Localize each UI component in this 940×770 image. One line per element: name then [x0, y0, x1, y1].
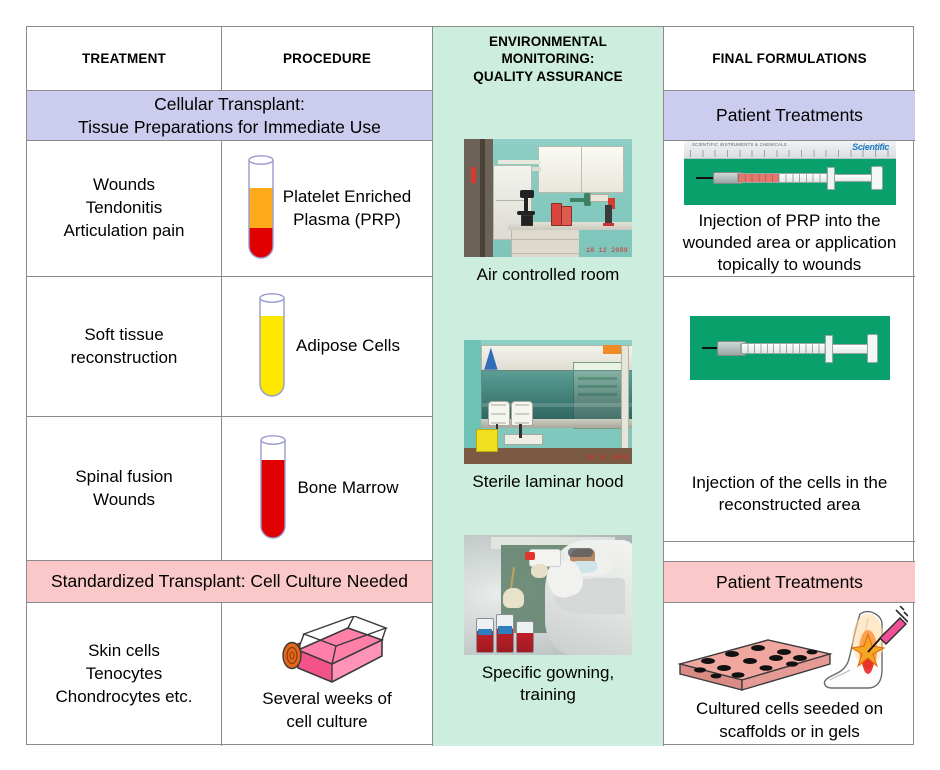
scaffold-and-foot-injection [672, 606, 908, 694]
laminar-hood-photo: 18 12 2009 [464, 340, 632, 464]
final-row2-line1: Injection of the cells in the [692, 472, 888, 494]
gowning-photo [464, 535, 632, 655]
photo-datestamp: 18 12 2009 [586, 247, 628, 254]
figure-root: TREATMENT PROCEDURE ENVIRONMENTAL MONITO… [0, 0, 940, 770]
test-tube-bone-marrow-icon [255, 430, 291, 548]
banner-standardized-transplant: Standardized Transplant: Cell Culture Ne… [27, 561, 432, 603]
gowning-caption-line2: training [433, 684, 663, 706]
environmental-item-1: 18 12 2009 Air controlled room [433, 139, 663, 286]
syringe-cells-photo [690, 316, 890, 380]
procedure-row1-label: Platelet Enriched Plasma (PRP) [283, 186, 412, 230]
column-header-final-formulations: FINAL FORMULATIONS [664, 27, 915, 91]
final-cell-row4: Cultured cells seeded on scaffolds or in… [664, 603, 915, 746]
test-tube-bone-marrow [255, 430, 291, 548]
procedure-row2-line1: Adipose Cells [296, 335, 400, 357]
syringe-prp-photo: SCIENTIFIC INSTRUMENTS & CHEMICALS Scien… [684, 141, 896, 205]
column-header-procedure: PROCEDURE [222, 27, 432, 91]
column-header-environmental: ENVIRONMENTAL MONITORING: QUALITY ASSURA… [433, 27, 663, 91]
procedure-cell-row2: Adipose Cells [222, 277, 432, 417]
environmental-item-2: 18 12 2009 Sterile laminar hood [433, 340, 663, 493]
procedure-row3-label: Bone Marrow [297, 477, 398, 499]
final-cell-row1: SCIENTIFIC INSTRUMENTS & CHEMICALS Scien… [664, 141, 915, 277]
scaffold-and-foot-injection-icon [672, 606, 908, 694]
test-tube-adipose [254, 288, 290, 406]
test-tube-adipose-icon [254, 288, 290, 406]
lab-room-photo: 18 12 2009 [464, 139, 632, 257]
column-header-environmental-line3: QUALITY ASSURANCE [473, 68, 622, 85]
procedure-row1-line2: Plasma (PRP) [283, 209, 412, 231]
gowning-caption-line1: Specific gowning, [433, 662, 663, 684]
procedure-row4-line1: Several weeks of [262, 688, 391, 710]
test-tube-prp [243, 150, 279, 268]
process-table: TREATMENT PROCEDURE ENVIRONMENTAL MONITO… [26, 26, 914, 745]
banner-patient-2-label: Patient Treatments [716, 571, 863, 594]
banner-standardized-label: Standardized Transplant: Cell Culture Ne… [51, 570, 408, 593]
treatment-row4-line3: Chondrocytes etc. [55, 686, 192, 709]
treatment-row1-line2: Tendonitis [64, 197, 185, 220]
treatment-cell-row1: Wounds Tendonitis Articulation pain [27, 141, 222, 277]
treatment-cell-row2: Soft tissue reconstruction [27, 277, 222, 417]
treatment-row3-line2: Wounds [75, 489, 172, 512]
laminar-hood-caption: Sterile laminar hood [433, 471, 663, 493]
test-tube-prp-icon [243, 150, 279, 268]
treatment-row2-line2: reconstruction [71, 347, 178, 370]
column-header-treatment: TREATMENT [27, 27, 222, 91]
final-row1-caption: Injection of PRP into the wounded area o… [683, 210, 897, 276]
ruler-text: SCIENTIFIC INSTRUMENTS & CHEMICALS [692, 142, 787, 147]
banner-cellular-line2: Tissue Preparations for Immediate Use [78, 116, 381, 139]
gowning-caption: Specific gowning, training [433, 662, 663, 706]
photo-ruler: SCIENTIFIC INSTRUMENTS & CHEMICALS Scien… [684, 141, 896, 159]
procedure-cell-row1: Platelet Enriched Plasma (PRP) [222, 141, 432, 277]
final-row4-caption: Cultured cells seeded on scaffolds or in… [696, 698, 883, 742]
procedure-row4-label: Several weeks of cell culture [262, 688, 391, 732]
final-row1-line2: wounded area or application [683, 232, 897, 254]
column-header-environmental-line1: ENVIRONMENTAL [473, 33, 622, 50]
treatment-row1-line1: Wounds [64, 174, 185, 197]
photo-datestamp: 18 12 2009 [586, 454, 628, 461]
final-row1-line1: Injection of PRP into the [683, 210, 897, 232]
culture-flask-icon [264, 616, 390, 686]
column-header-procedure-label: PROCEDURE [283, 51, 371, 66]
procedure-row3-line1: Bone Marrow [297, 477, 398, 499]
column-header-treatment-label: TREATMENT [82, 51, 166, 66]
final-row4-line2: scaffolds or in gels [696, 721, 883, 743]
procedure-row2-label: Adipose Cells [296, 335, 400, 357]
treatment-cell-row3: Spinal fusion Wounds [27, 417, 222, 561]
treatment-cell-row4: Skin cells Tenocytes Chondrocytes etc. [27, 603, 222, 746]
treatment-row4-line1: Skin cells [55, 640, 192, 663]
culture-flask [264, 616, 390, 686]
treatment-row4-line2: Tenocytes [55, 663, 192, 686]
environmental-monitoring-column: ENVIRONMENTAL MONITORING: QUALITY ASSURA… [432, 27, 664, 746]
procedure-cell-row3: Bone Marrow [222, 417, 432, 561]
procedure-row1-line1: Platelet Enriched [283, 186, 412, 208]
final-row2-line2: reconstructed area [692, 494, 888, 516]
final-cell-row2: Injection of the cells in the reconstruc… [664, 277, 915, 542]
procedure-row4-line2: cell culture [262, 711, 391, 733]
final-row2-caption: Injection of the cells in the reconstruc… [692, 472, 888, 516]
environmental-item-3: Specific gowning, training [433, 535, 663, 706]
treatment-row2-line1: Soft tissue [71, 324, 178, 347]
banner-cellular-line1: Cellular Transplant: [78, 93, 381, 116]
treatment-row1-line3: Articulation pain [64, 220, 185, 243]
column-header-environmental-line2: MONITORING: [473, 50, 622, 67]
banner-patient-treatments-2: Patient Treatments [664, 561, 915, 603]
treatment-row3-line1: Spinal fusion [75, 466, 172, 489]
banner-patient-treatments-1: Patient Treatments [664, 91, 915, 141]
banner-patient-1-label: Patient Treatments [716, 104, 863, 127]
final-row4-line1: Cultured cells seeded on [696, 698, 883, 720]
final-row1-line3: topically to wounds [683, 254, 897, 276]
procedure-cell-row4: Several weeks of cell culture [222, 603, 432, 746]
column-header-final-label: FINAL FORMULATIONS [712, 51, 867, 66]
banner-cellular-transplant: Cellular Transplant: Tissue Preparations… [27, 91, 432, 141]
lab-room-caption: Air controlled room [433, 264, 663, 286]
